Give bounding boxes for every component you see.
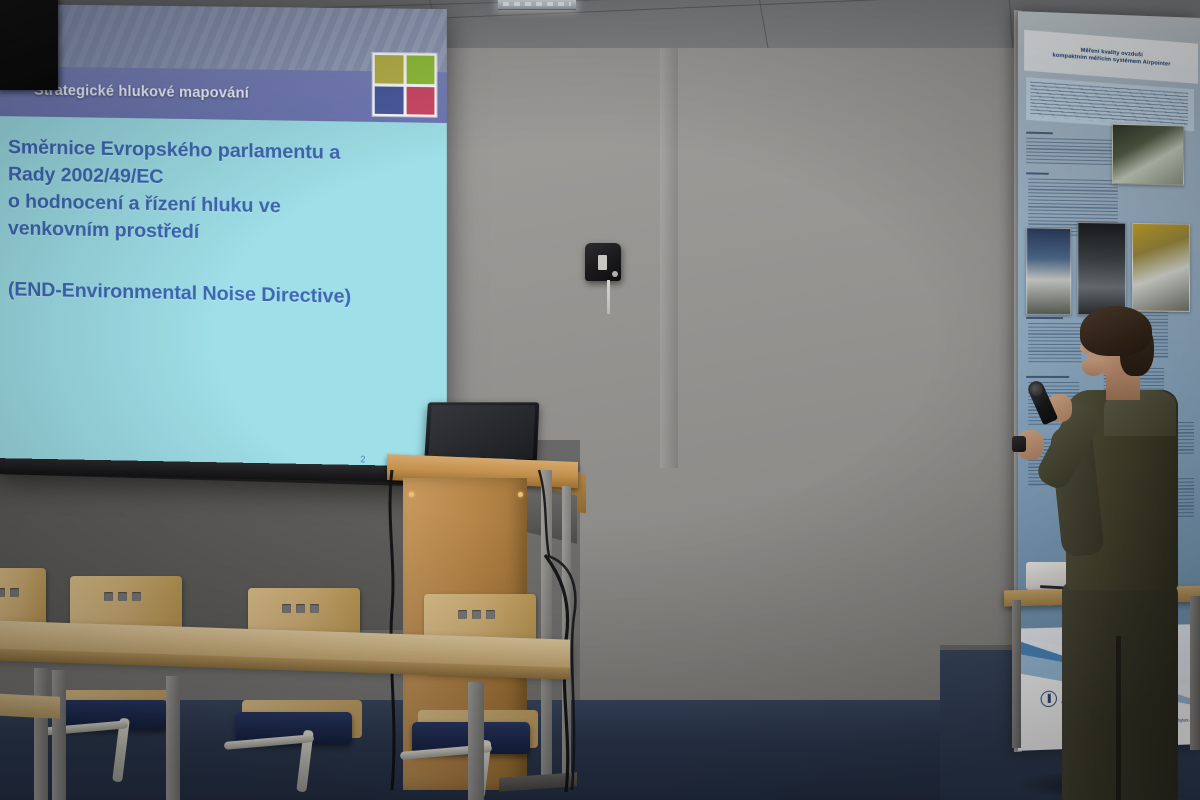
poster-section-heading [1026,172,1049,175]
presenter-hair [1080,306,1152,356]
four-square-logo-icon [373,53,437,117]
poster-photo-instrument-rack [1077,222,1126,315]
ceiling-light [498,0,576,10]
table-leg [52,670,66,800]
laptop-screen [424,402,539,464]
poster-photo-rooftop-unit [1026,227,1071,315]
wall-speaker [585,243,621,281]
slide-header-title: Strategické hlukové mapování [34,83,249,102]
side-table-leg [1190,596,1200,750]
wall-corner-column [660,48,678,468]
poster-photo-monitoring-cabinet [1112,124,1184,186]
projection-screen: Strategické hlukové mapování Směrnice Ev… [0,4,447,487]
logo-square-top-right [406,55,434,83]
lectern-fitting [518,492,523,497]
logo-square-bottom-right [406,86,434,114]
presenter-leg-seam [1116,636,1121,800]
table-leg [166,676,180,800]
secondary-table-top [0,693,60,719]
slide-body: Směrnice Evropského parlamentu a Rady 20… [8,134,432,313]
ceiling-mounted-speaker [0,0,58,90]
wall-speaker-indicator [612,271,618,277]
lectern-leg [562,486,571,782]
poster-abstract-box [1026,77,1194,131]
table-leg [468,682,484,800]
poster-paragraph [1026,138,1114,166]
poster-photo-indoor-unit [1132,223,1190,312]
lectern-fitting [409,492,414,497]
slide-subtitle: (END-Environmental Noise Directive) [8,276,432,313]
poster-title-box: Měření kvality ovzduší kompaktním měřící… [1024,30,1198,84]
presentation-clicker[interactable] [1012,436,1026,452]
presenter [1008,306,1188,800]
slide-number: 2 [360,454,365,464]
logo-square-bottom-left [375,86,403,114]
presenter-chin [1082,358,1104,376]
poster-section-heading [1026,132,1053,135]
wall-speaker-cable [607,280,610,314]
lectern-leg [541,470,552,782]
conference-room-scene: Strategické hlukové mapování Směrnice Ev… [0,0,1200,800]
presentation-slide: Strategické hlukové mapování Směrnice Ev… [0,4,447,479]
table-leg [34,668,48,800]
logo-square-top-left [375,55,403,83]
